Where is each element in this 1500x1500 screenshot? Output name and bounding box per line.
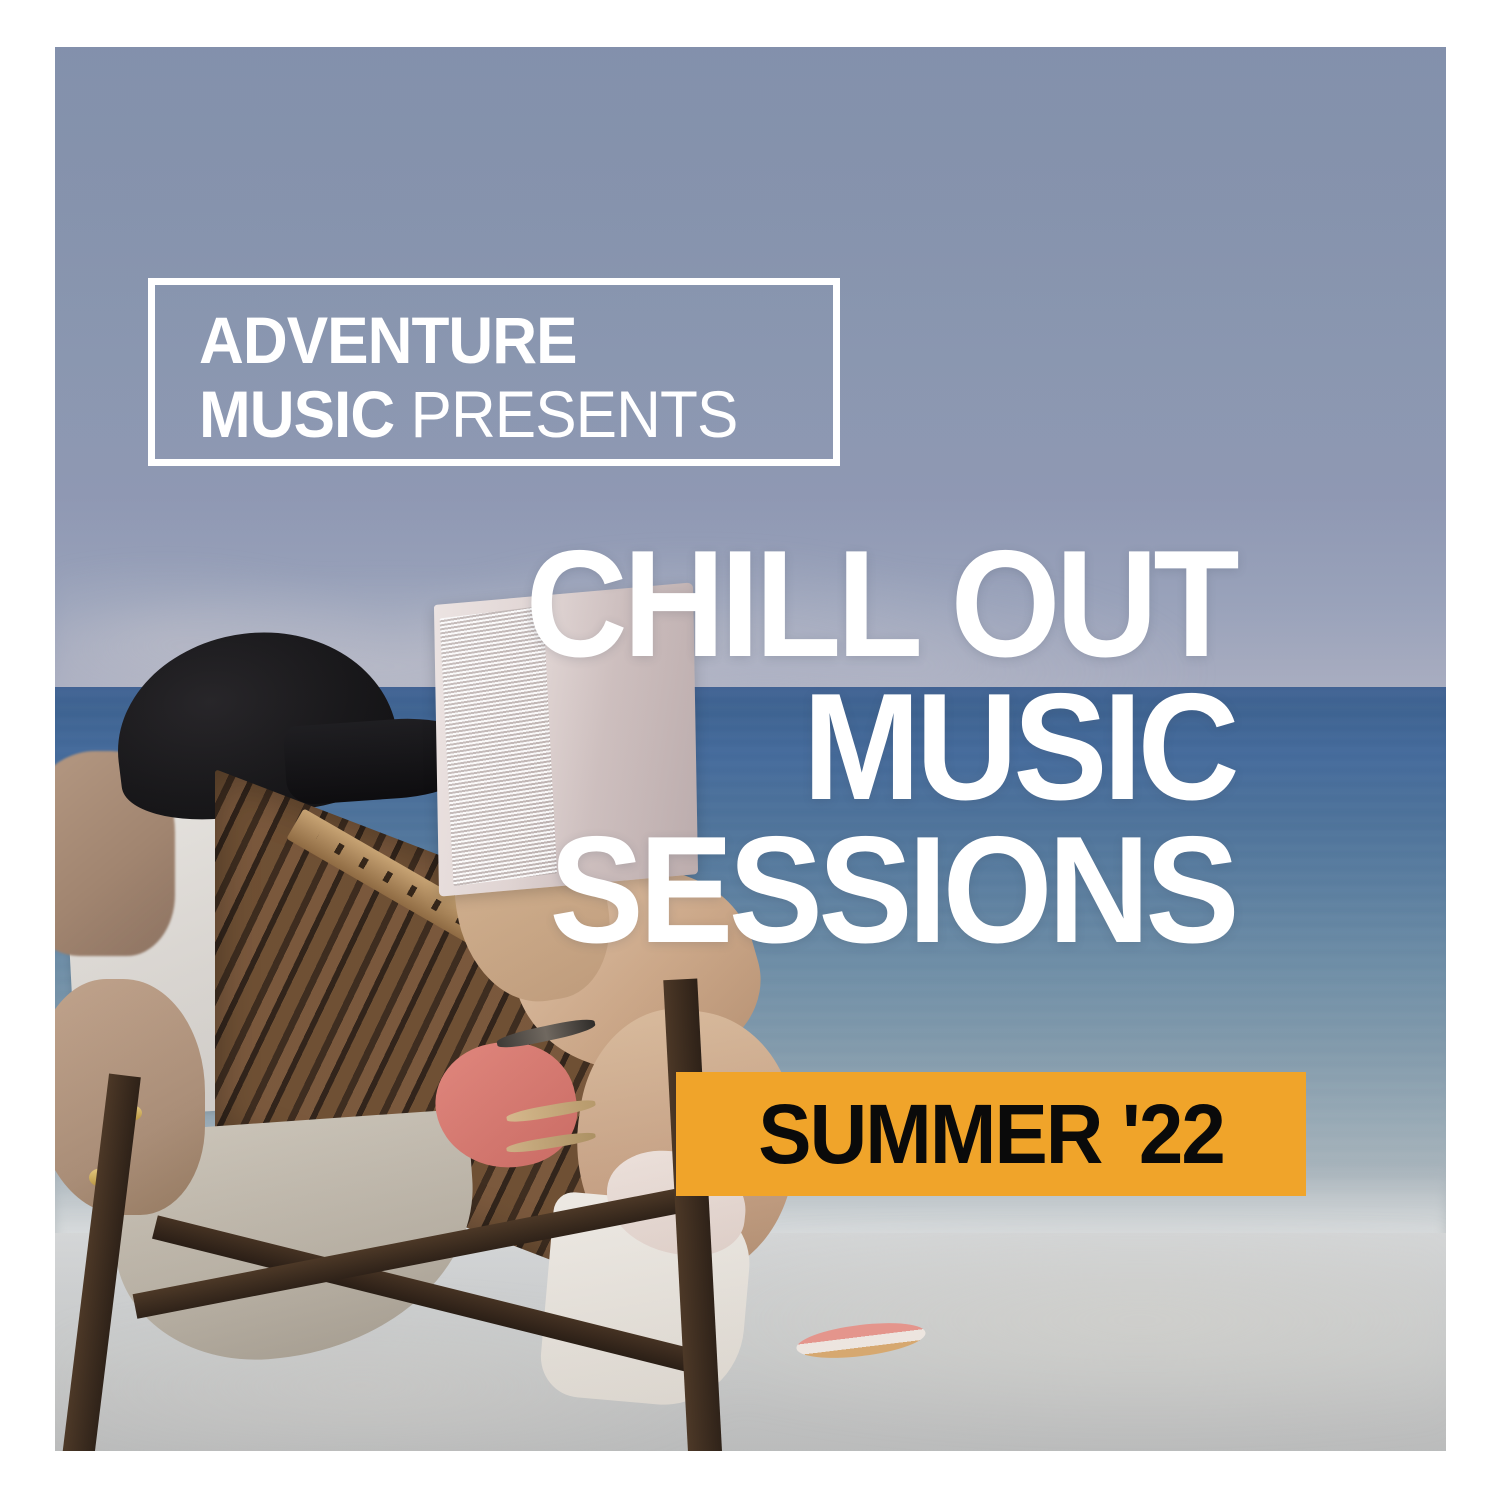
headline-line-2: MUSIC bbox=[324, 676, 1235, 819]
headline: CHILL OUT MUSIC SESSIONS bbox=[255, 533, 1235, 962]
label-badge-music-word: MUSIC bbox=[199, 377, 411, 451]
headline-line-3: SESSIONS bbox=[324, 819, 1235, 962]
label-badge-text-group: ADVENTURE MUSIC PRESENTS bbox=[199, 303, 815, 451]
album-artwork-root: ADVENTURE MUSIC PRESENTS CHILL OUT MUSIC… bbox=[0, 0, 1500, 1500]
headline-line-1: CHILL OUT bbox=[324, 533, 1235, 676]
cover-photo: ADVENTURE MUSIC PRESENTS CHILL OUT MUSIC… bbox=[55, 47, 1446, 1451]
label-badge-line-1: ADVENTURE bbox=[199, 303, 778, 377]
season-badge-label: SUMMER '22 bbox=[758, 1092, 1224, 1176]
label-badge: ADVENTURE MUSIC PRESENTS bbox=[148, 278, 840, 466]
label-badge-presents-word: PRESENTS bbox=[411, 377, 738, 451]
label-badge-line-2: MUSIC PRESENTS bbox=[199, 377, 778, 451]
sandal bbox=[795, 1317, 928, 1364]
season-badge: SUMMER '22 bbox=[676, 1072, 1306, 1196]
